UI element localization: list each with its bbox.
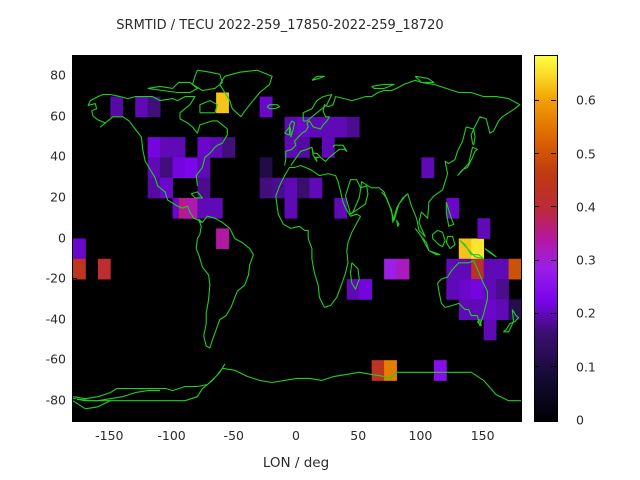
colorbar-tick-mark — [534, 313, 539, 314]
heatmap-cell — [148, 137, 161, 158]
coastline-path — [73, 401, 110, 409]
heatmap-cell — [73, 259, 86, 280]
heatmap-cell — [285, 198, 298, 219]
coastline-path — [433, 230, 446, 246]
heatmap-cell — [260, 97, 273, 118]
y-tick-mark — [72, 399, 77, 400]
y-tick-label: -80 — [0, 392, 66, 407]
heatmap-cell — [210, 198, 223, 219]
colorbar-tick-mark — [551, 153, 556, 154]
heatmap-cell — [197, 178, 210, 199]
x-axis-label: LON / deg — [0, 455, 592, 471]
heatmap-cell — [347, 117, 360, 138]
heatmap-cell — [185, 157, 198, 178]
heatmap-axes — [72, 55, 522, 422]
heatmap-cell — [484, 259, 497, 280]
coastline-path — [397, 220, 399, 226]
heatmap-cell — [98, 259, 111, 280]
x-tick-mark — [171, 415, 172, 420]
x-tick-label: 100 — [409, 428, 433, 443]
page-title: SRMTID / TECU 2022-259_17850-2022-259_18… — [0, 18, 560, 33]
y-tick-label: 0 — [0, 230, 66, 245]
heatmap-cell — [471, 279, 484, 300]
y-tick-mark — [72, 318, 77, 319]
map-canvas — [73, 56, 521, 421]
x-tick-label: -150 — [95, 428, 123, 443]
heatmap-cell — [484, 279, 497, 300]
x-tick-mark — [109, 415, 110, 420]
heatmap-cell — [484, 320, 497, 341]
colorbar-tick-mark — [534, 100, 539, 101]
heatmap-cell — [397, 259, 410, 280]
heatmap-cell — [297, 178, 310, 199]
heatmap-cell — [372, 360, 385, 381]
heatmap-cell — [496, 279, 509, 300]
heatmap-cell — [477, 218, 490, 239]
heatmap-cell — [496, 259, 509, 280]
x-tick-label: 150 — [471, 428, 495, 443]
x-tick-label: 0 — [292, 428, 300, 443]
coastline-path — [73, 364, 225, 401]
y-tick-label: -20 — [0, 271, 66, 286]
heatmap-cell — [185, 198, 198, 219]
y-tick-label: 20 — [0, 189, 66, 204]
colorbar-tick-mark — [551, 260, 556, 261]
x-tick-mark — [296, 415, 297, 420]
heatmap-cell — [471, 239, 484, 260]
colorbar-tick-mark — [534, 153, 539, 154]
y-tick-mark — [72, 278, 77, 279]
heatmap-cell — [260, 157, 273, 178]
y-tick-mark — [72, 359, 77, 360]
heatmap-cell — [73, 239, 86, 260]
heatmap-cell — [285, 178, 298, 199]
colorbar-tick-mark — [534, 206, 539, 207]
y-tick-mark — [72, 75, 77, 76]
heatmap-cell — [160, 157, 173, 178]
x-tick-label: -100 — [157, 428, 185, 443]
y-tick-mark — [72, 156, 77, 157]
heatmap-cell — [160, 137, 173, 158]
coastline-path — [222, 368, 521, 400]
heatmap-cell — [110, 97, 123, 118]
y-tick-mark — [72, 196, 77, 197]
y-tick-mark — [72, 115, 77, 116]
heatmap-cell — [496, 299, 509, 320]
coastline-path — [446, 237, 455, 249]
colorbar-tick-mark — [551, 313, 556, 314]
coastline-path — [458, 147, 478, 175]
colorbar-tick-mark — [534, 366, 539, 367]
colorbar-tick-mark — [551, 100, 556, 101]
heatmap-cell — [359, 279, 372, 300]
heatmap-cell — [322, 117, 335, 138]
y-tick-label: 40 — [0, 149, 66, 164]
coastline-path — [312, 76, 325, 80]
heatmap-cell — [173, 157, 186, 178]
coastline-path — [193, 70, 223, 90]
y-tick-label: -60 — [0, 352, 66, 367]
heatmap-cell — [484, 299, 497, 320]
coastline-path — [471, 129, 475, 145]
heatmap-cell — [197, 198, 210, 219]
coastline-path — [485, 249, 496, 257]
colorbar-tick-label: 0 — [576, 413, 584, 428]
heatmap-cell — [334, 117, 347, 138]
heatmap-cell — [216, 228, 229, 249]
heatmap-cell — [260, 178, 273, 199]
colorbar-tick-mark — [551, 206, 556, 207]
coastline-path — [200, 101, 218, 113]
coastline-path — [148, 82, 198, 92]
heatmap-cell — [173, 137, 186, 158]
colorbar-tick-label: 0.3 — [576, 253, 596, 268]
figure-root: SRMTID / TECU 2022-259_17850-2022-259_18… — [0, 0, 640, 480]
y-tick-label: 60 — [0, 108, 66, 123]
heatmap-cell — [509, 299, 521, 320]
coastline-path — [285, 80, 520, 236]
heatmap-cell — [309, 178, 322, 199]
coastline-path — [346, 180, 368, 215]
x-tick-mark — [420, 415, 421, 420]
heatmap-cell — [210, 137, 223, 158]
heatmap-cell — [421, 157, 434, 178]
colorbar-tick-label: 0.4 — [576, 199, 596, 214]
coastline-path — [372, 84, 394, 88]
x-tick-mark — [482, 415, 483, 420]
y-tick-label: -40 — [0, 311, 66, 326]
colorbar-tick-label: 0.5 — [576, 146, 596, 161]
x-tick-label: -50 — [224, 428, 244, 443]
colorbar-tick-label: 0.6 — [576, 93, 596, 108]
x-tick-mark — [358, 415, 359, 420]
heatmap-cell — [384, 259, 397, 280]
colorbar-tick-mark — [551, 366, 556, 367]
coastline-path — [73, 391, 160, 401]
colorbar-tick-mark — [534, 420, 539, 421]
y-tick-label: 80 — [0, 68, 66, 83]
heatmap-cell — [148, 178, 161, 199]
heatmap-cell — [135, 97, 148, 118]
x-tick-label: 50 — [350, 428, 366, 443]
heatmap-cell — [509, 259, 521, 280]
x-tick-mark — [233, 415, 234, 420]
heatmap-cell — [434, 360, 447, 381]
colorbar-tick-mark — [551, 420, 556, 421]
colorbar-tick-label: 0.2 — [576, 306, 596, 321]
colorbar-tick-label: 0.1 — [576, 359, 596, 374]
y-tick-mark — [72, 237, 77, 238]
heatmap-cell — [446, 279, 459, 300]
heatmap-cell — [459, 279, 472, 300]
colorbar-tick-mark — [534, 260, 539, 261]
